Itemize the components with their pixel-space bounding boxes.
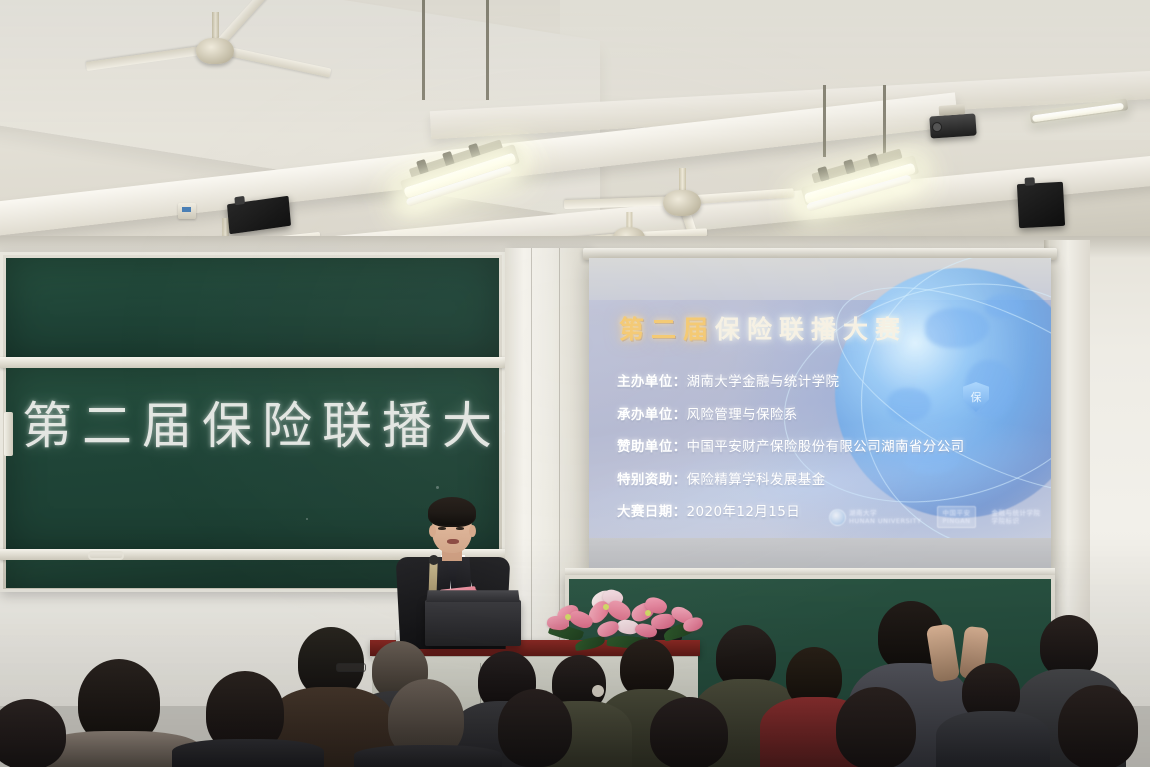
- ceiling-switch-box: [178, 203, 196, 219]
- logo-3-sub: 学院标识: [992, 517, 1041, 525]
- slide-value-sponsor: 中国平安财产保险股份有限公司湖南省分公司: [687, 439, 965, 455]
- audience-body: [354, 745, 502, 767]
- logo-school: 金融与统计学院 学院标识: [992, 509, 1041, 525]
- audience-head: [1040, 615, 1098, 677]
- slide-line-host: 承办单位：风险管理与保险系: [617, 403, 1007, 423]
- slide-title-prefix: 第二届: [619, 315, 715, 344]
- slide-line-organizer: 主办单位：湖南大学金融与统计学院: [617, 370, 1007, 390]
- presenter-ear-left: [429, 525, 436, 537]
- fluorescent-lamp-right: [1030, 95, 1140, 135]
- presenter-mouth: [447, 539, 459, 544]
- lecture-hall-photo: 第二届保险联播大赛 保: [0, 0, 1150, 767]
- slide-label-date: 大赛日期：: [617, 504, 687, 520]
- slide-label-host: 承办单位：: [617, 407, 687, 423]
- audience-body: [172, 739, 324, 767]
- slide-line-sponsor: 赞助单位：中国平安财产保险股份有限公司湖南省分公司: [617, 435, 1007, 455]
- slide-title: 第二届保险联播大赛: [619, 310, 907, 346]
- logo-2-name: 中国平安: [942, 509, 970, 517]
- slide-value-organizer: 湖南大学金融与统计学院: [687, 374, 840, 390]
- slide-canvas: 保 第二届保险联播大赛 主办单位：湖南大学金融与统计学院 承办单位：风险管理与保…: [589, 258, 1051, 576]
- blackboard-rail-upper: [0, 357, 505, 368]
- fluorescent-lamp-center: [805, 155, 935, 245]
- audience-head: [498, 689, 572, 767]
- slide-line-funding: 特别资助：保险精算学科发展基金: [617, 468, 1007, 488]
- audience-head: [0, 699, 66, 767]
- presenter-ear-right: [469, 525, 476, 537]
- slide-title-main: 保险联播大赛: [715, 315, 907, 344]
- slide-logo-row: 湖南大学 HUNAN UNIVERSITY 中国平安 PINGAN 金融与统计学…: [829, 504, 1029, 530]
- slide-value-funding: 保险精算学科发展基金: [687, 472, 826, 488]
- slide-value-host: 风险管理与保险系: [687, 407, 798, 423]
- wall-speaker-right: [1017, 182, 1065, 228]
- blackboard-chalk-title: 第二届保险联播大赛: [22, 386, 495, 458]
- eyeglasses: [336, 663, 366, 672]
- ceiling-projector: [929, 113, 976, 138]
- hair-tie: [592, 685, 604, 697]
- audience-body: [936, 711, 1050, 767]
- blackboard-side-handle[interactable]: [4, 412, 13, 456]
- logo-1-sub: HUNAN UNIVERSITY: [849, 517, 921, 525]
- blackboard-panel-top: [6, 258, 499, 358]
- slide-label-organizer: 主办单位：: [617, 374, 687, 390]
- slide-value-date: 2020年12月15日: [687, 504, 801, 520]
- blackboard-slide-handle[interactable]: [88, 551, 124, 560]
- logo-1-name: 湖南大学: [849, 509, 921, 517]
- audience: [0, 567, 1150, 767]
- university-seal-icon: [829, 509, 846, 526]
- logo-2-sub: PINGAN: [942, 517, 970, 525]
- logo-3-name: 金融与统计学院: [992, 509, 1041, 517]
- presenter-eye-left: [438, 527, 446, 530]
- slide-label-funding: 特别资助：: [617, 472, 687, 488]
- presenter-eye-right: [456, 527, 464, 530]
- presenter-hair: [428, 497, 476, 527]
- audience-head: [650, 697, 728, 767]
- projection-screen: 保 第二届保险联播大赛 主办单位：湖南大学金融与统计学院 承办单位：风险管理与保…: [589, 258, 1051, 576]
- fluorescent-lamp-left: [400, 100, 530, 190]
- slide-label-sponsor: 赞助单位：: [617, 439, 687, 455]
- logo-pingan: 中国平安 PINGAN: [937, 506, 975, 528]
- logo-hunan-university: 湖南大学 HUNAN UNIVERSITY: [829, 509, 921, 526]
- audience-head: [836, 687, 916, 767]
- audience-head: [1058, 685, 1138, 767]
